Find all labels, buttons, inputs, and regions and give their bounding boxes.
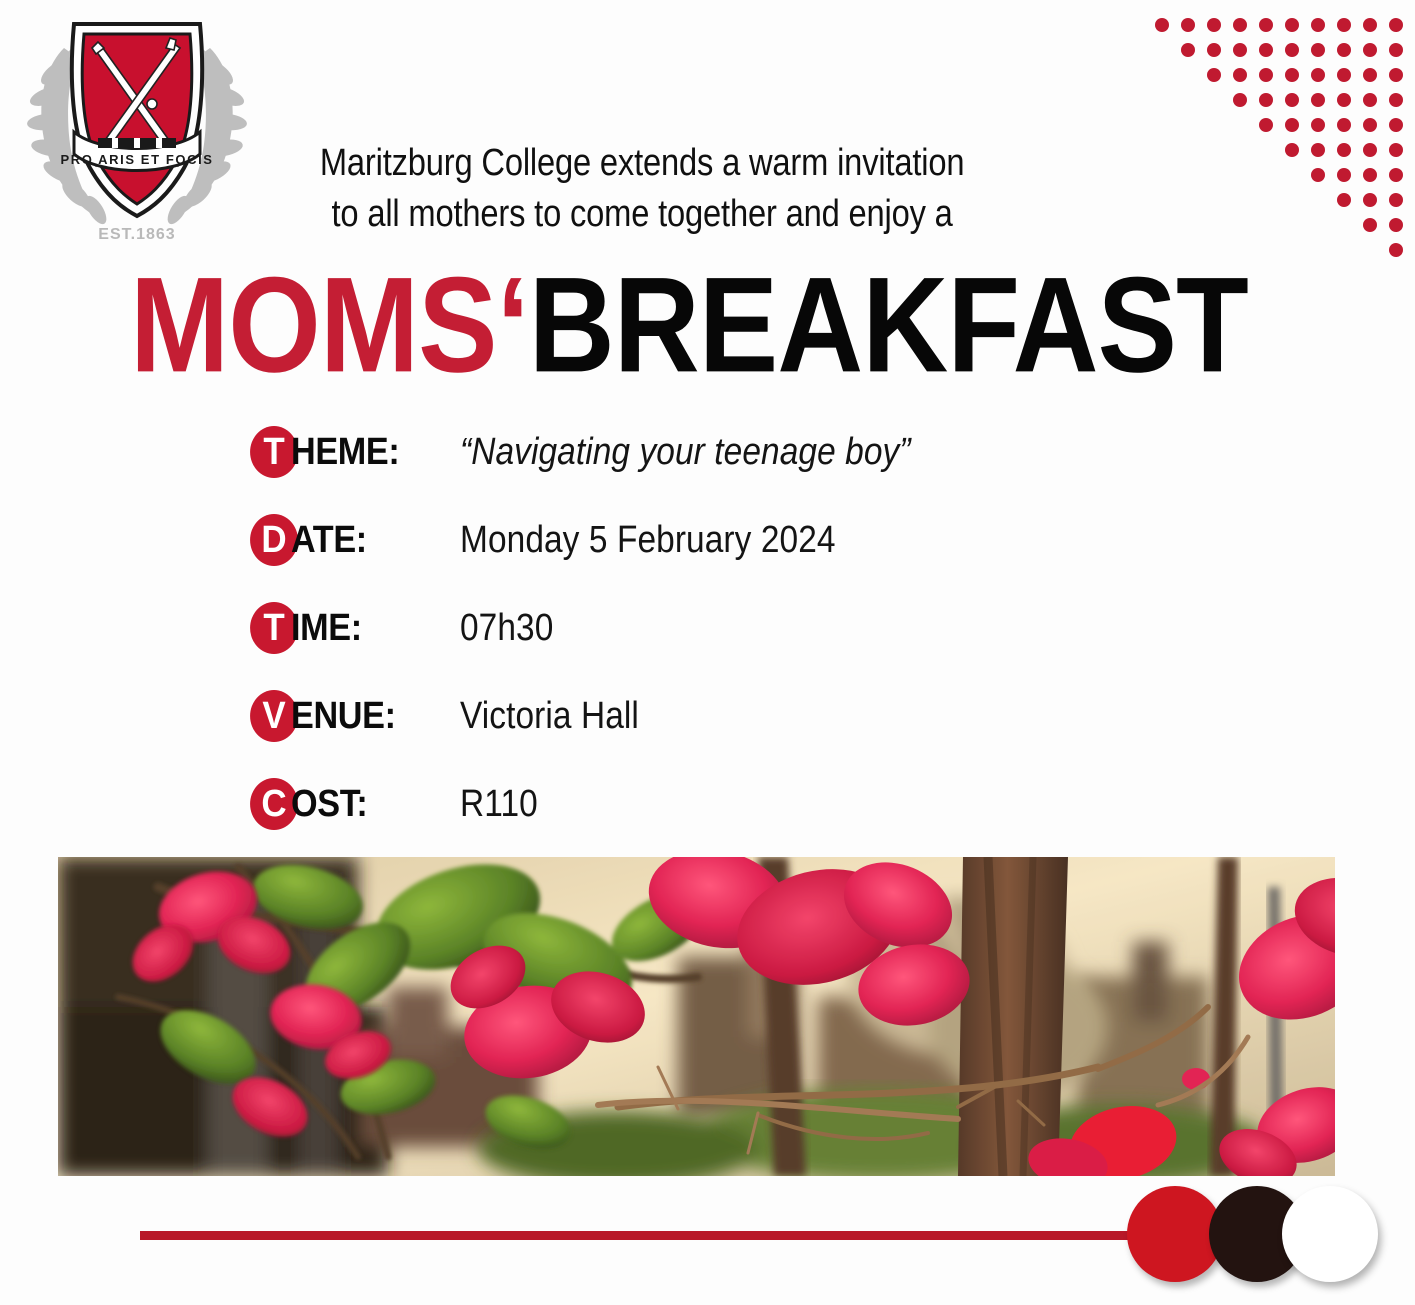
dot — [1389, 168, 1403, 182]
dot — [1259, 93, 1273, 107]
detail-label-time: T IME: — [248, 602, 460, 654]
dot — [1337, 43, 1351, 57]
dot — [1207, 68, 1221, 82]
dot-row — [1139, 87, 1403, 112]
dot — [1337, 68, 1351, 82]
invitation-intro: Maritzburg College extends a warm invita… — [268, 138, 1016, 239]
title-breakfast: BREAKFAST — [529, 250, 1248, 402]
dot — [1233, 18, 1247, 32]
dot — [1389, 68, 1403, 82]
dot — [1337, 18, 1351, 32]
dot — [1285, 93, 1299, 107]
dot — [1389, 193, 1403, 207]
motto-text: PRO ARIS ET FOCIS — [60, 152, 213, 167]
dot — [1311, 93, 1325, 107]
crest-svg: PRO ARIS ET FOCIS — [12, 8, 262, 258]
intro-line-1: Maritzburg College extends a warm invita… — [268, 138, 1016, 189]
dot — [1207, 43, 1221, 57]
dot — [1311, 68, 1325, 82]
detail-label-text: ATE: — [291, 519, 367, 562]
poster-canvas: PRO ARIS ET FOCIS EST.1863 Maritzburg Co… — [0, 0, 1415, 1305]
dot-row — [1139, 162, 1403, 187]
dot — [1285, 68, 1299, 82]
dot-row — [1139, 137, 1403, 162]
dot — [1233, 93, 1247, 107]
dot — [1285, 43, 1299, 57]
detail-label-text: OST: — [291, 783, 367, 826]
dot — [1337, 93, 1351, 107]
dot — [1337, 168, 1351, 182]
accent-circle-white — [1282, 1186, 1378, 1282]
established-text: EST.1863 — [12, 226, 262, 244]
dot — [1285, 118, 1299, 132]
dot — [1259, 68, 1273, 82]
detail-value-date: Monday 5 February 2024 — [460, 519, 836, 562]
dot — [1259, 118, 1273, 132]
dot-row — [1139, 62, 1403, 87]
dot — [1363, 193, 1377, 207]
dot-row — [1139, 187, 1403, 212]
dot-row — [1139, 12, 1403, 37]
dot — [1337, 193, 1351, 207]
detail-label-theme: T HEME: — [248, 426, 460, 478]
dot — [1311, 18, 1325, 32]
page-title: MOMS‘BREAKFAST — [130, 258, 1248, 394]
dot-row — [1139, 37, 1403, 62]
college-crest: PRO ARIS ET FOCIS EST.1863 — [12, 8, 262, 258]
detail-label-text: ENUE: — [291, 695, 396, 738]
dot — [1259, 18, 1273, 32]
dot — [1389, 93, 1403, 107]
detail-label-date: D ATE: — [248, 514, 460, 566]
dot — [1389, 243, 1403, 257]
detail-value-cost: R110 — [460, 783, 538, 826]
bougainvillea-photo — [58, 857, 1335, 1176]
dot — [1337, 118, 1351, 132]
dot — [1181, 43, 1195, 57]
dot — [1233, 43, 1247, 57]
title-moms: MOMS‘ — [130, 250, 529, 402]
bottom-rule-divider — [140, 1231, 1160, 1240]
event-details-list: T HEME: “Navigating your teenage boy” D … — [248, 408, 1248, 848]
intro-line-2: to all mothers to come together and enjo… — [268, 189, 1016, 240]
detail-label-cost: C OST: — [248, 778, 460, 830]
dot — [1207, 18, 1221, 32]
dot — [1363, 18, 1377, 32]
dot-row — [1139, 212, 1403, 237]
detail-row-theme: T HEME: “Navigating your teenage boy” — [248, 408, 1248, 496]
dot — [1363, 68, 1377, 82]
detail-label-venue: V ENUE: — [248, 690, 460, 742]
dot — [1311, 168, 1325, 182]
dot — [1363, 118, 1377, 132]
detail-value-time: 07h30 — [460, 607, 553, 650]
detail-value-theme: “Navigating your teenage boy” — [460, 431, 911, 474]
dot — [1363, 93, 1377, 107]
dot — [1233, 68, 1247, 82]
detail-row-time: T IME: 07h30 — [248, 584, 1248, 672]
dot — [1285, 143, 1299, 157]
dot — [1363, 143, 1377, 157]
dot — [1311, 143, 1325, 157]
dot — [1389, 118, 1403, 132]
dot — [1155, 18, 1169, 32]
dot — [1363, 218, 1377, 232]
dot — [1363, 43, 1377, 57]
dot — [1311, 118, 1325, 132]
detail-row-cost: C OST: R110 — [248, 760, 1248, 848]
dot — [1259, 43, 1273, 57]
detail-label-text: HEME: — [291, 431, 399, 474]
photo-illustration — [58, 857, 1335, 1176]
dot — [1181, 18, 1195, 32]
dot — [1363, 168, 1377, 182]
dot — [1389, 43, 1403, 57]
dot-row — [1139, 112, 1403, 137]
detail-row-venue: V ENUE: Victoria Hall — [248, 672, 1248, 760]
dot — [1311, 43, 1325, 57]
dot — [1389, 18, 1403, 32]
decorative-dot-grid — [1139, 12, 1403, 262]
dot — [1389, 218, 1403, 232]
detail-row-date: D ATE: Monday 5 February 2024 — [248, 496, 1248, 584]
detail-value-venue: Victoria Hall — [460, 695, 639, 738]
detail-label-text: IME: — [291, 607, 362, 650]
dot — [1285, 18, 1299, 32]
dot — [1389, 143, 1403, 157]
dot — [1337, 143, 1351, 157]
